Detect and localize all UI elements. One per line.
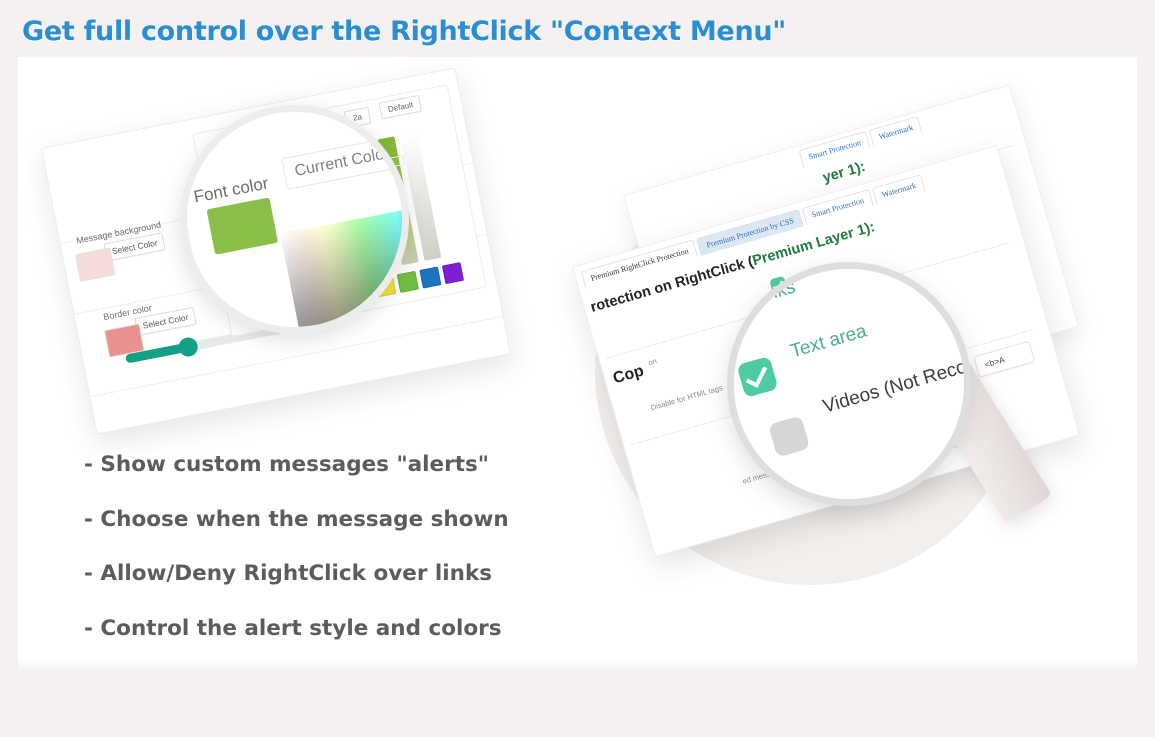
disable-html-tags-note: Disable for HTML tags [650,383,724,412]
back-section-title: yer 1): [821,159,867,186]
magnifier-left: Font color Current Color [180,105,409,334]
swatch-message-background[interactable] [75,248,116,282]
magnified-checkbox-videos[interactable] [768,416,810,458]
magnified-label-videos: Videos (Not Recomm [821,348,971,419]
slide-stage: Get full control over the RightClick "Co… [0,0,1155,737]
preset-swatch[interactable] [419,266,441,288]
feature-bullet-list: - Show custom messages "alerts" - Choose… [84,452,509,670]
bullet-item: - Choose when the message shown [84,507,509,532]
magnified-label-text-area: Text area [788,321,869,364]
magnified-label-links: links [756,276,799,308]
copy-heading-sub: on [647,356,658,367]
left-composition: Message background Select Color Border c… [40,80,520,440]
opacity-slider-knob[interactable] [177,336,199,358]
copy-heading: Cop [611,362,646,387]
bullet-item: - Show custom messages "alerts" [84,452,509,477]
magnified-current-color-swatch[interactable] [206,197,278,254]
magnified-current-color-field[interactable]: Current Color [281,126,409,190]
magnified-checkbox-text-area[interactable] [736,356,778,398]
page-title: Get full control over the RightClick "Co… [22,16,786,47]
magnifier-right: links Text area Videos (Not Recomm [727,262,971,506]
tab-watermark[interactable]: Watermark [872,174,926,205]
bullet-item: - Allow/Deny RightClick over links [84,561,509,586]
bullet-item: - Control the alert style and colors [84,616,509,641]
alert-message-input-4[interactable]: <b>A [973,341,1035,378]
preset-swatch[interactable] [442,262,464,284]
right-composition: Smart Protection Watermark yer 1): ommen… [595,130,1115,590]
